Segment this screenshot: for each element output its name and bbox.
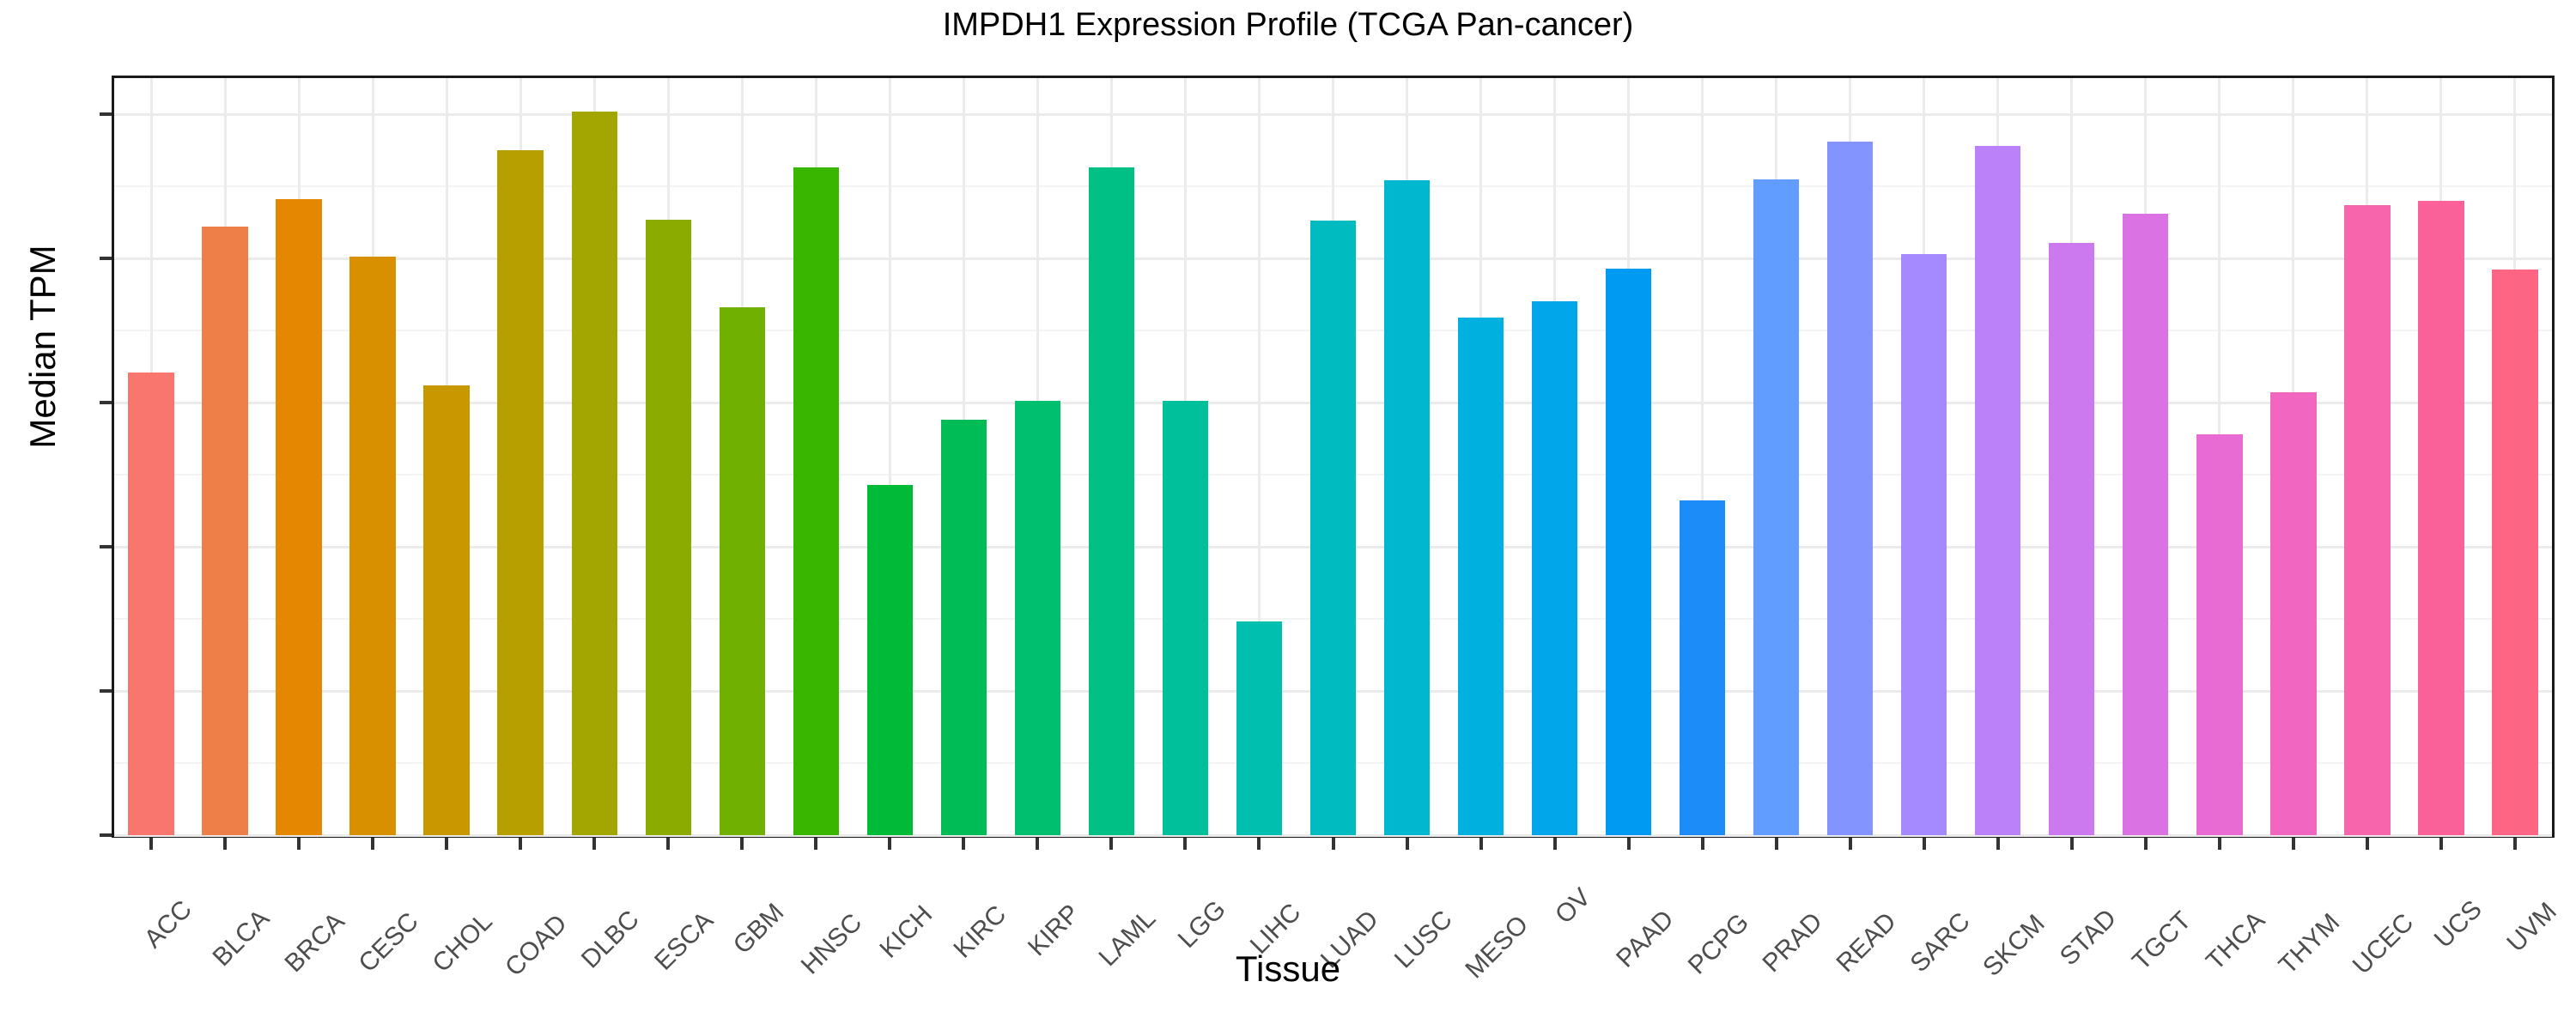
x-tick-mark [149,838,153,850]
bar-blca[interactable] [202,227,247,835]
bar-kich[interactable] [867,485,913,835]
x-tick-mark [888,838,891,850]
x-tick-label-cesc: CESC [404,857,476,928]
x-tick-label-text: ACC [139,895,198,954]
bar-read[interactable] [1827,142,1873,835]
plot-panel [112,76,2555,838]
y-tick-mark [100,401,112,404]
bar-tgct[interactable] [2123,214,2168,835]
x-tick-mark [592,838,596,850]
x-tick-mark [2439,838,2443,850]
x-tick-mark [1406,838,1409,850]
bar-lgg[interactable] [1163,401,1208,835]
bar-ucec[interactable] [2344,205,2390,835]
x-tick-label-ov: OV [1576,857,1623,904]
x-tick-mark [519,838,522,850]
bar-stad[interactable] [2049,243,2094,835]
x-tick-label-tgct: TGCT [2177,857,2247,927]
bar-brca[interactable] [276,199,321,835]
x-tick-mark [223,838,227,850]
bar-meso[interactable] [1458,318,1504,835]
x-tick-label-lihc: LIHC [1286,857,1348,918]
x-tick-label-gbm: GBM [769,857,831,918]
x-tick-mark [1183,838,1187,850]
bar-sarc[interactable] [1901,254,1947,835]
x-tick-label-acc: ACC [178,857,237,916]
x-tick-mark [371,838,374,850]
bar-lusc[interactable] [1384,180,1430,835]
x-tick-mark [2070,838,2074,850]
bar-kirc[interactable] [941,420,987,835]
bar-luad[interactable] [1310,221,1356,835]
x-tick-label-kirc: KIRC [992,857,1056,921]
x-tick-label-brca: BRCA [330,857,401,928]
x-tick-mark [1332,838,1335,850]
x-tick-mark [2144,838,2148,850]
x-tick-label-blca: BLCA [255,857,323,924]
x-tick-mark [2366,838,2369,850]
x-tick-mark [740,838,744,850]
x-tick-mark [1109,838,1113,850]
bar-cesc[interactable] [349,257,395,835]
y-tick-mark [100,689,112,693]
bar-ov[interactable] [1532,301,1577,835]
bar-thym[interactable] [2270,392,2316,835]
x-tick-mark [1627,838,1631,850]
x-tick-label-uvm: UVM [2543,857,2576,918]
bar-lihc[interactable] [1236,621,1282,835]
chart-figure: IMPDH1 Expression Profile (TCGA Pan-canc… [0,0,2576,1030]
x-axis-label: Tissue [0,948,2576,990]
x-tick-label-prad: PRAD [1807,857,1879,928]
x-tick-mark [1553,838,1557,850]
x-tick-mark [1479,838,1483,850]
x-tick-mark [1701,838,1704,850]
x-tick-mark [1036,838,1039,850]
y-tick-mark [100,257,112,260]
x-tick-label-kich: KICH [918,857,982,921]
x-tick-label-luad: LUAD [1364,857,1433,926]
x-tick-mark [1996,838,2000,850]
x-tick-label-lgg: LGG [1212,857,1271,916]
bar-hnsc[interactable] [793,167,839,835]
x-tick-mark [2513,838,2517,850]
x-tick-mark [2218,838,2221,850]
plot-area [114,78,2552,835]
x-tick-mark [1775,838,1778,850]
x-tick-label-stad: STAD [2102,857,2170,924]
x-tick-label-chol: CHOL [478,857,550,928]
x-tick-label-thym: THYM [2325,857,2397,929]
x-tick-mark [445,838,448,850]
bar-ucs[interactable] [2418,201,2464,835]
x-tick-label-sarc: SARC [1955,857,2026,928]
bar-laml[interactable] [1089,167,1134,835]
bar-skcm[interactable] [1975,146,2020,835]
bar-chol[interactable] [423,385,469,835]
bar-esca[interactable] [646,220,691,835]
page-title: IMPDH1 Expression Profile (TCGA Pan-canc… [0,7,2576,44]
bar-prad[interactable] [1753,179,1799,835]
bar-acc[interactable] [128,373,173,835]
x-tick-label-thca: THCA [2251,857,2321,927]
bar-paad[interactable] [1606,269,1651,835]
bar-dlbc[interactable] [572,112,617,835]
x-tick-label-read: READ [1881,857,1953,928]
bar-pcpg[interactable] [1680,500,1725,835]
y-tick-mark [100,833,112,837]
x-tick-mark [1257,838,1261,850]
x-tick-mark [814,838,817,850]
bar-gbm[interactable] [720,307,765,835]
x-tick-label-kirp: KIRP [1066,857,1129,920]
x-tick-label-paad: PAAD [1659,857,1728,925]
y-axis-label: Median TPM [22,167,64,527]
bar-coad[interactable] [497,150,543,835]
y-tick-mark [100,112,112,116]
bar-kirp[interactable] [1015,401,1060,835]
x-tick-label-lusc: LUSC [1437,857,1507,926]
x-tick-label-dlbc: DLBC [625,857,695,926]
x-tick-mark [297,838,301,850]
x-tick-mark [2292,838,2295,850]
x-tick-mark [1849,838,1852,850]
x-tick-mark [962,838,965,850]
x-tick-mark [1923,838,1926,850]
x-tick-mark [666,838,670,850]
bar-uvm[interactable] [2492,270,2537,835]
y-tick-mark [100,545,112,548]
x-tick-label-ucs: UCS [2468,857,2527,916]
bar-thca[interactable] [2196,434,2242,835]
